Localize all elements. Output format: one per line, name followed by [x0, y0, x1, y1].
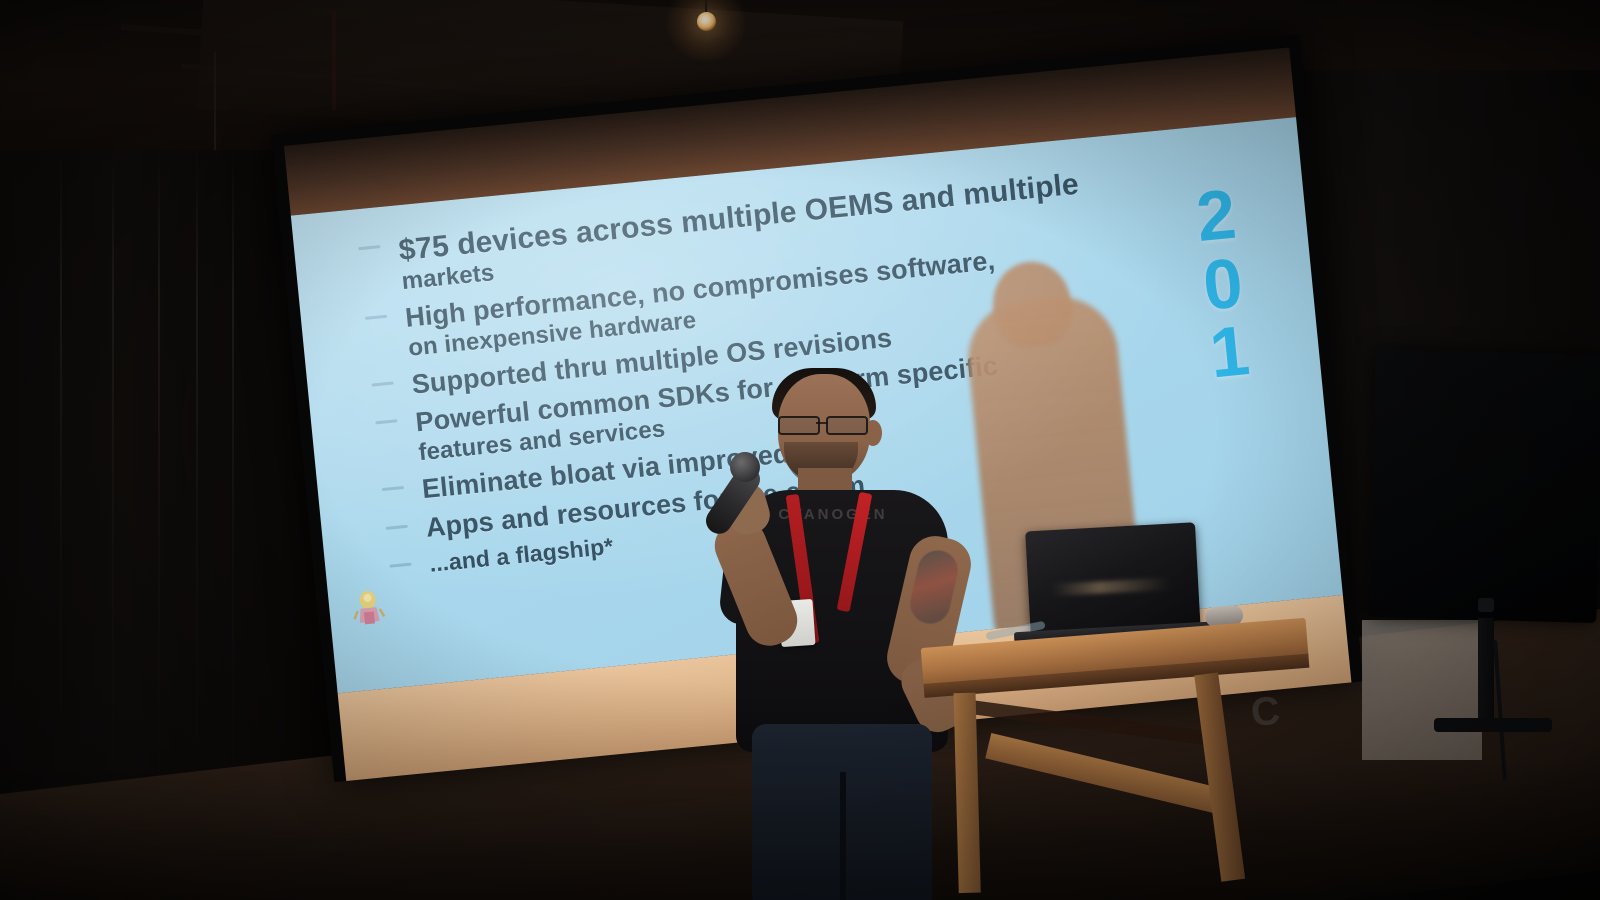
year-digit: 0: [1175, 245, 1271, 322]
tv-panel: [1368, 349, 1600, 623]
bullet-dash-icon: [375, 420, 397, 425]
bullet-dash-icon: [382, 486, 404, 491]
light-bulb-icon: [697, 12, 716, 31]
year-digit: 2: [1168, 177, 1264, 254]
slide-year-numerals: 2 0 1: [1168, 177, 1278, 391]
tv-stand-neck: [1478, 618, 1494, 722]
microphone-head: [730, 452, 760, 482]
laptop-screen-glint: [1052, 578, 1170, 596]
flat-screen-display: [1372, 352, 1600, 772]
bullet-dash-icon: [372, 381, 394, 386]
table-diagonal-brace: [985, 733, 1221, 813]
laptop-screen: [1025, 522, 1200, 637]
bullet-dash-icon: [389, 563, 411, 568]
wall-patch: [1362, 620, 1482, 760]
ceiling-support-post: [332, 10, 336, 110]
table-leg: [1194, 672, 1245, 881]
bullet-dash-icon: [358, 245, 380, 250]
eyeglasses-icon: [776, 416, 872, 432]
bullet-dash-icon: [386, 524, 408, 529]
presenter-table: [920, 603, 1341, 900]
year-digit: 1: [1182, 314, 1278, 391]
presentation-room-photo: $75 devices across multiple OEMS and mul…: [0, 0, 1600, 900]
presenter-leg-seam: [840, 772, 846, 900]
tv-cable: [1493, 640, 1507, 780]
tv-brand-logo: [1478, 598, 1494, 612]
bullet-dash-icon: [365, 315, 387, 320]
table-leg: [954, 693, 981, 894]
tv-stand-base: [1434, 718, 1552, 732]
slide-clipart-icon: [350, 586, 388, 629]
stage-curtain-left: [0, 150, 300, 810]
